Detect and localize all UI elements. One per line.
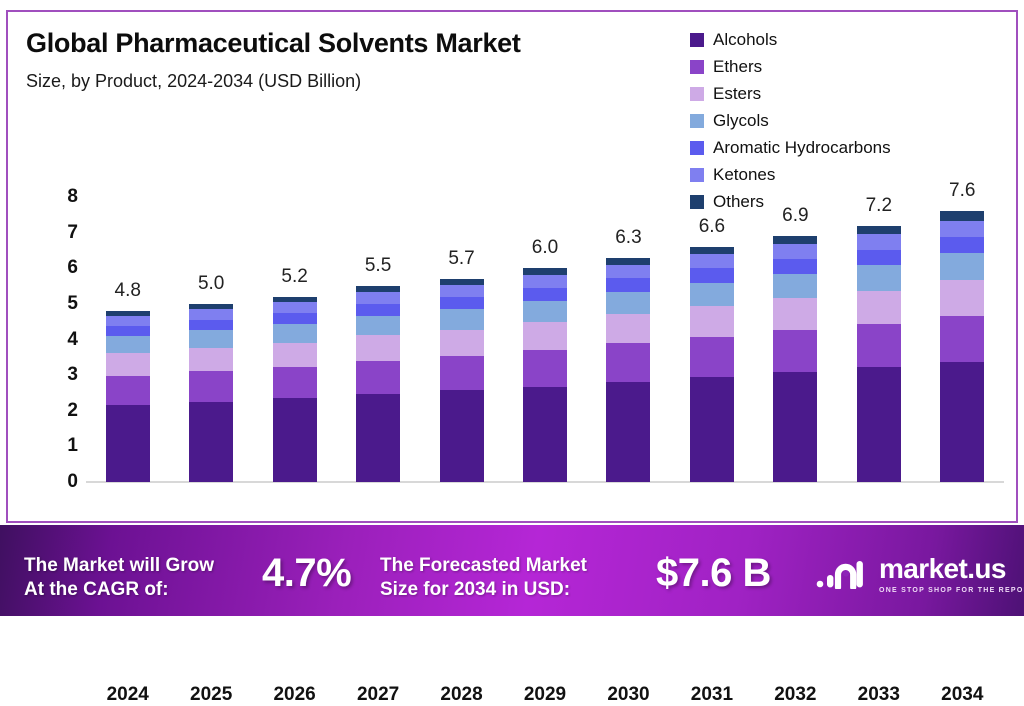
bar-total-label: 4.8 bbox=[115, 280, 141, 302]
x-axis-label-2034: 2034 bbox=[941, 684, 983, 706]
y-axis-tick-3: 3 bbox=[67, 364, 78, 386]
bar-segment-esters[interactable] bbox=[523, 322, 567, 350]
bar-column-2026[interactable]: 5.2 bbox=[273, 192, 317, 482]
bar-segment-esters[interactable] bbox=[273, 343, 317, 367]
bar-segment-esters[interactable] bbox=[356, 335, 400, 360]
bar-segment-glycols[interactable] bbox=[690, 283, 734, 307]
bar-segment-esters[interactable] bbox=[440, 330, 484, 356]
x-axis-label-2031: 2031 bbox=[691, 684, 733, 706]
bar-column-2029[interactable]: 6.0 bbox=[523, 192, 567, 482]
cagr-label: The Market will Grow At the CAGR of: bbox=[24, 554, 214, 603]
bar-segment-alcohols[interactable] bbox=[356, 394, 400, 482]
x-axis-label-2030: 2030 bbox=[607, 684, 649, 706]
bar-segment-ketones[interactable] bbox=[940, 221, 984, 237]
bar-stack bbox=[940, 211, 984, 482]
logo-name: market.us bbox=[879, 555, 1024, 583]
bar-segment-aromatic-hydrocarbons[interactable] bbox=[773, 259, 817, 274]
bar-total-label: 7.2 bbox=[866, 195, 892, 217]
bar-segment-ketones[interactable] bbox=[690, 254, 734, 268]
bar-segment-aromatic-hydrocarbons[interactable] bbox=[606, 278, 650, 292]
bar-segment-ethers[interactable] bbox=[356, 361, 400, 394]
bar-segment-alcohols[interactable] bbox=[106, 405, 150, 482]
bar-segment-glycols[interactable] bbox=[523, 301, 567, 322]
bar-segment-aromatic-hydrocarbons[interactable] bbox=[940, 237, 984, 253]
bar-stack bbox=[189, 304, 233, 482]
bar-segment-others[interactable] bbox=[773, 236, 817, 244]
bar-segment-ethers[interactable] bbox=[690, 337, 734, 377]
bar-segment-others[interactable] bbox=[857, 226, 901, 235]
forecast-label-line1: The Forecasted Market bbox=[380, 555, 587, 576]
bar-segment-alcohols[interactable] bbox=[440, 390, 484, 482]
x-axis-label-2024: 2024 bbox=[107, 684, 149, 706]
x-axis-label-2032: 2032 bbox=[774, 684, 816, 706]
bar-segment-glycols[interactable] bbox=[356, 316, 400, 336]
bar-stack bbox=[523, 268, 567, 482]
bar-total-label: 6.3 bbox=[615, 227, 641, 249]
bar-segment-esters[interactable] bbox=[606, 314, 650, 343]
bar-segment-ethers[interactable] bbox=[857, 324, 901, 367]
bar-column-2032[interactable]: 6.9 bbox=[773, 192, 817, 482]
bar-segment-ketones[interactable] bbox=[773, 244, 817, 259]
bar-total-label: 5.2 bbox=[281, 266, 307, 288]
bar-column-2034[interactable]: 7.6 bbox=[940, 192, 984, 482]
bar-segment-ethers[interactable] bbox=[440, 356, 484, 391]
forecast-label: The Forecasted Market Size for 2034 in U… bbox=[380, 554, 587, 603]
bar-segment-esters[interactable] bbox=[106, 353, 150, 375]
bar-column-2033[interactable]: 7.2 bbox=[857, 192, 901, 482]
y-axis-tick-7: 7 bbox=[67, 222, 78, 244]
bar-total-label: 7.6 bbox=[949, 180, 975, 202]
bar-column-2025[interactable]: 5.0 bbox=[189, 192, 233, 482]
bar-segment-glycols[interactable] bbox=[273, 324, 317, 343]
summary-banner: The Market will Grow At the CAGR of: 4.7… bbox=[0, 525, 1024, 616]
bar-segment-ethers[interactable] bbox=[106, 376, 150, 405]
y-axis-tick-8: 8 bbox=[67, 186, 78, 208]
bar-segment-ketones[interactable] bbox=[440, 285, 484, 297]
bar-segment-others[interactable] bbox=[606, 258, 650, 265]
bar-segment-others[interactable] bbox=[690, 247, 734, 254]
bar-segment-aromatic-hydrocarbons[interactable] bbox=[273, 313, 317, 324]
bar-stack bbox=[106, 311, 150, 482]
bar-total-label: 5.5 bbox=[365, 255, 391, 277]
bar-segment-aromatic-hydrocarbons[interactable] bbox=[523, 288, 567, 301]
bar-segment-glycols[interactable] bbox=[106, 336, 150, 353]
bar-column-2027[interactable]: 5.5 bbox=[356, 192, 400, 482]
bar-segment-alcohols[interactable] bbox=[690, 377, 734, 482]
y-axis-tick-2: 2 bbox=[67, 400, 78, 422]
bar-column-2024[interactable]: 4.8 bbox=[106, 192, 150, 482]
logo-tagline: ONE STOP SHOP FOR THE REPORTS bbox=[879, 587, 1024, 594]
bar-column-2031[interactable]: 6.6 bbox=[690, 192, 734, 482]
bar-segment-ketones[interactable] bbox=[356, 292, 400, 304]
plot-area: 876543210 4.820245.020255.220265.520275.… bbox=[8, 12, 1020, 521]
bar-segment-ketones[interactable] bbox=[606, 265, 650, 279]
y-axis: 876543210 bbox=[52, 197, 78, 482]
y-axis-tick-4: 4 bbox=[67, 329, 78, 351]
bar-stack bbox=[857, 226, 901, 482]
bar-segment-ketones[interactable] bbox=[106, 316, 150, 326]
bar-segment-ketones[interactable] bbox=[273, 302, 317, 313]
bar-segment-ethers[interactable] bbox=[189, 371, 233, 401]
x-axis-label-2026: 2026 bbox=[273, 684, 315, 706]
x-axis-label-2027: 2027 bbox=[357, 684, 399, 706]
bar-stack bbox=[273, 297, 317, 482]
bar-segment-ethers[interactable] bbox=[523, 350, 567, 386]
y-axis-tick-0: 0 bbox=[67, 471, 78, 493]
market-us-logo-icon bbox=[816, 555, 870, 594]
bar-segment-ketones[interactable] bbox=[189, 309, 233, 320]
cagr-value: 4.7% bbox=[262, 551, 351, 596]
bar-segment-ethers[interactable] bbox=[273, 367, 317, 399]
bar-segment-aromatic-hydrocarbons[interactable] bbox=[690, 268, 734, 282]
cagr-label-line2: At the CAGR of: bbox=[24, 579, 169, 600]
bar-segment-alcohols[interactable] bbox=[273, 398, 317, 482]
bar-segment-alcohols[interactable] bbox=[606, 382, 650, 482]
bar-total-label: 5.7 bbox=[448, 248, 474, 270]
bar-segment-aromatic-hydrocarbons[interactable] bbox=[356, 304, 400, 316]
bar-total-label: 6.9 bbox=[782, 205, 808, 227]
y-axis-tick-1: 1 bbox=[67, 435, 78, 457]
bar-column-2030[interactable]: 6.3 bbox=[606, 192, 650, 482]
bar-segment-esters[interactable] bbox=[690, 306, 734, 337]
bar-segment-ethers[interactable] bbox=[773, 330, 817, 372]
bar-segment-esters[interactable] bbox=[857, 291, 901, 324]
bar-segment-aromatic-hydrocarbons[interactable] bbox=[106, 326, 150, 336]
bar-total-label: 6.0 bbox=[532, 237, 558, 259]
y-axis-tick-5: 5 bbox=[67, 293, 78, 315]
bar-segment-esters[interactable] bbox=[940, 280, 984, 315]
bar-segment-glycols[interactable] bbox=[773, 274, 817, 299]
bar-segment-glycols[interactable] bbox=[440, 309, 484, 329]
bar-stack bbox=[606, 258, 650, 482]
bar-segment-alcohols[interactable] bbox=[523, 387, 567, 482]
bar-segment-glycols[interactable] bbox=[940, 253, 984, 280]
x-axis-label-2028: 2028 bbox=[440, 684, 482, 706]
bar-segment-others[interactable] bbox=[940, 211, 984, 220]
bar-total-label: 6.6 bbox=[699, 216, 725, 238]
forecast-value: $7.6 B bbox=[656, 551, 771, 596]
bar-series-group: 4.820245.020255.220265.520275.720286.020… bbox=[86, 192, 1004, 482]
bar-segment-ketones[interactable] bbox=[857, 234, 901, 249]
bar-segment-alcohols[interactable] bbox=[189, 402, 233, 483]
y-axis-tick-6: 6 bbox=[67, 257, 78, 279]
bar-segment-esters[interactable] bbox=[773, 298, 817, 330]
bar-segment-ethers[interactable] bbox=[940, 316, 984, 362]
bar-segment-alcohols[interactable] bbox=[940, 362, 984, 482]
brand-logo[interactable]: market.us ONE STOP SHOP FOR THE REPORTS bbox=[816, 555, 1024, 594]
bar-segment-glycols[interactable] bbox=[606, 292, 650, 314]
cagr-label-line1: The Market will Grow bbox=[24, 555, 214, 576]
bar-segment-glycols[interactable] bbox=[857, 265, 901, 291]
bar-stack bbox=[356, 286, 400, 482]
bar-segment-aromatic-hydrocarbons[interactable] bbox=[857, 250, 901, 265]
x-axis-label-2029: 2029 bbox=[524, 684, 566, 706]
x-axis-label-2033: 2033 bbox=[858, 684, 900, 706]
bar-column-2028[interactable]: 5.7 bbox=[440, 192, 484, 482]
bar-segment-aromatic-hydrocarbons[interactable] bbox=[440, 297, 484, 309]
infographic-root: Global Pharmaceutical Solvents Market Si… bbox=[0, 0, 1024, 616]
bar-total-label: 5.0 bbox=[198, 273, 224, 295]
bar-segment-alcohols[interactable] bbox=[773, 372, 817, 482]
chart-panel: Global Pharmaceutical Solvents Market Si… bbox=[6, 10, 1018, 523]
bar-segment-glycols[interactable] bbox=[189, 330, 233, 348]
bar-segment-ethers[interactable] bbox=[606, 343, 650, 381]
bar-stack bbox=[773, 236, 817, 482]
forecast-label-line2: Size for 2034 in USD: bbox=[380, 579, 570, 600]
bar-stack bbox=[690, 247, 734, 482]
bar-segment-esters[interactable] bbox=[189, 348, 233, 371]
bar-segment-alcohols[interactable] bbox=[857, 367, 901, 482]
bar-segment-aromatic-hydrocarbons[interactable] bbox=[189, 320, 233, 331]
bar-stack bbox=[440, 279, 484, 482]
bar-segment-ketones[interactable] bbox=[523, 275, 567, 288]
x-axis-label-2025: 2025 bbox=[190, 684, 232, 706]
bar-segment-others[interactable] bbox=[523, 268, 567, 275]
logo-text-block: market.us ONE STOP SHOP FOR THE REPORTS bbox=[879, 555, 1024, 594]
